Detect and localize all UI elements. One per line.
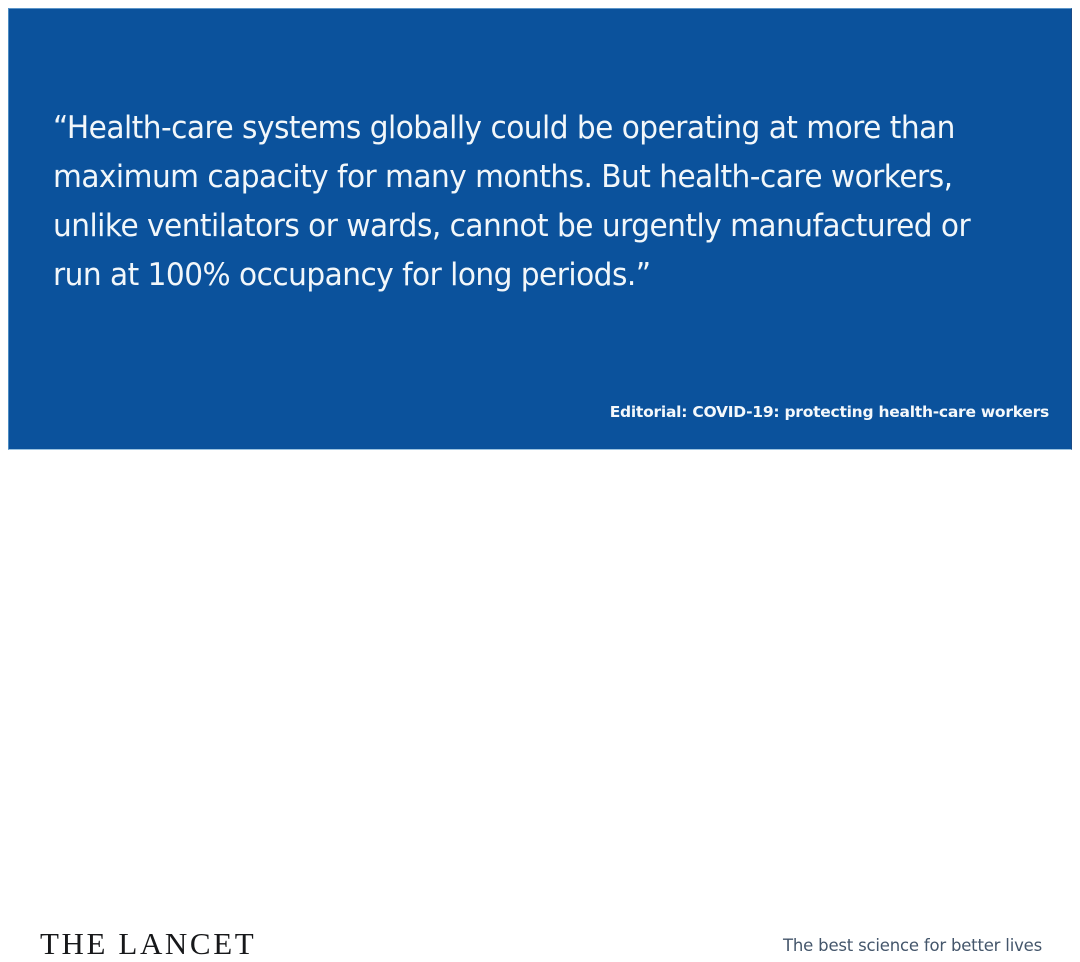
- lancet-quote-card: “Health-care systems globally could be o…: [0, 0, 1080, 540]
- quote-line-1: “Health-care systems globally could be o…: [53, 104, 998, 153]
- quote-attribution: Editorial: COVID-19: protecting health-c…: [53, 403, 1049, 421]
- quote-line-2: maximum capacity for many months. But he…: [53, 153, 998, 202]
- lancet-logo-wordmark: THE LANCET: [40, 926, 256, 962]
- brand-tagline: The best science for better lives: [783, 936, 1042, 955]
- pull-quote: “Health-care systems globally could be o…: [53, 104, 1043, 300]
- quote-line-3: unlike ventilators or wards, cannot be u…: [53, 202, 998, 251]
- footer-bar: THE LANCET The best science for better l…: [0, 450, 1080, 540]
- quote-panel: “Health-care systems globally could be o…: [8, 8, 1072, 450]
- quote-line-4: run at 100% occupancy for long periods.”: [53, 251, 998, 300]
